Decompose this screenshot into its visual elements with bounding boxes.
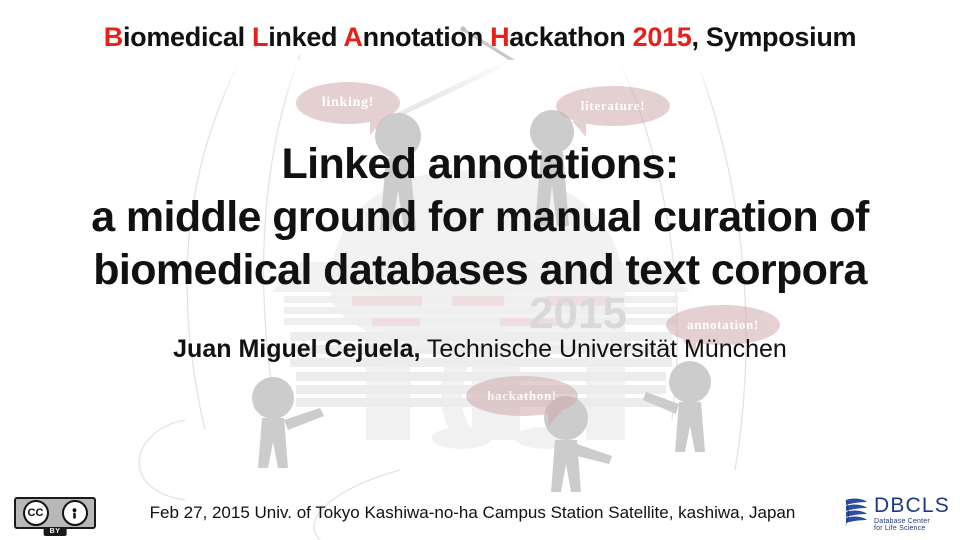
author-line: Juan Miguel Cejuela, Technische Universi… [0, 335, 960, 364]
slide-title: Linked annotations: a middle ground for … [0, 138, 960, 297]
thread-lines [139, 55, 746, 540]
header-part-3: inked [268, 22, 343, 52]
speech-bubble-tail [370, 119, 384, 135]
event-header: Biomedical Linked Annotation Hackathon 2… [0, 22, 960, 53]
dbcls-subtitle-2: for Life Science [874, 525, 950, 532]
header-part-7: ackathon [509, 22, 632, 52]
header-part-1: iomedical [123, 22, 252, 52]
figure-bottom-left [252, 377, 324, 468]
speech-bubble-tail [548, 411, 562, 427]
header-part-9: , Symposium [692, 22, 857, 52]
header-part-2: L [252, 22, 268, 52]
author-affiliation: Technische Universität München [420, 335, 786, 363]
creative-commons-badge[interactable]: CC BY [14, 497, 96, 529]
header-part-4: A [343, 22, 362, 52]
header-part-8: 2015 [633, 22, 692, 52]
cc-by-label: BY [44, 527, 67, 536]
speech-bubble-linking: linking! [296, 82, 400, 124]
speech-bubble-text: hackathon! [487, 388, 557, 404]
header-part-0: B [104, 22, 123, 52]
title-line-1: Linked annotations: [0, 138, 960, 191]
title-line-2: a middle ground for manual curation of [0, 191, 960, 244]
event-date-location: Feb 27, 2015 Univ. of Tokyo Kashiwa-no-h… [96, 503, 843, 523]
speech-bubble-text: annotation! [687, 317, 759, 333]
dbcls-mark-icon [843, 496, 869, 530]
figure-bottom-right [643, 361, 711, 452]
dbcls-wordmark: DBCLS Database Center for Life Science [874, 495, 950, 532]
cc-icon: CC [23, 500, 49, 526]
speech-bubble-literature: literature! [556, 86, 670, 126]
header-part-5: nnotation [363, 22, 490, 52]
title-line-3: biomedical databases and text corpora [0, 244, 960, 297]
highlight-marks [352, 296, 610, 326]
speech-bubble-tail [572, 121, 586, 137]
speech-bubble-text: literature! [581, 98, 646, 114]
dbcls-logo[interactable]: DBCLS Database Center for Life Science [843, 495, 950, 532]
speech-bubble-hackathon: hackathon! [466, 376, 578, 416]
dbcls-name: DBCLS [874, 494, 950, 517]
author-name: Juan Miguel Cejuela, [173, 335, 420, 363]
attribution-person-icon [62, 500, 88, 526]
event-header-text: Biomedical Linked Annotation Hackathon 2… [104, 22, 857, 52]
header-part-6: H [490, 22, 509, 52]
speech-bubble-text: linking! [322, 95, 374, 111]
dbcls-subtitle-1: Database Center [874, 518, 950, 525]
presentation-slide: 2015 [0, 0, 960, 540]
slide-footer: CC BY Feb 27, 2015 Univ. of Tokyo Kashiw… [0, 486, 960, 540]
